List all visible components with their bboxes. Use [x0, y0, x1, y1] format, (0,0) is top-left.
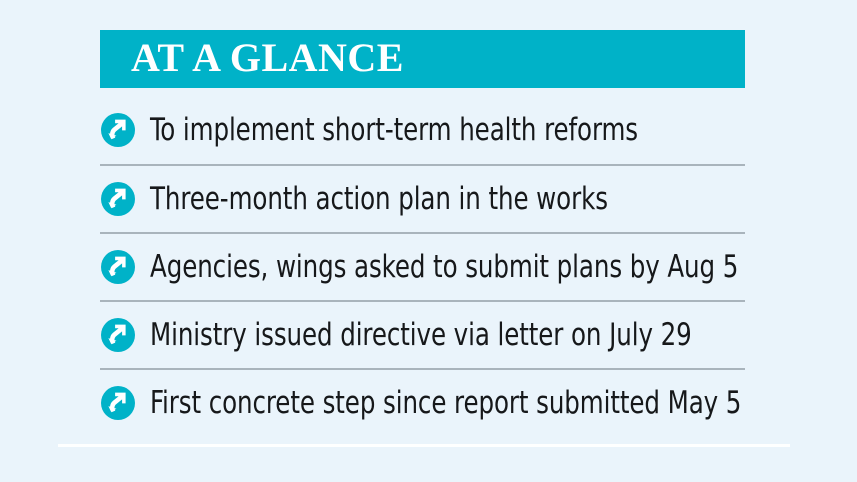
- list-item: Ministry issued directive via letter on …: [100, 300, 745, 368]
- list-item-label: To implement short-term health reforms: [150, 114, 674, 147]
- footer-divider: [58, 444, 790, 447]
- list-item-label: Agencies, wings asked to submit plans by…: [150, 251, 738, 284]
- at-a-glance-infographic: AT A GLANCE To implement short-term heal…: [0, 0, 857, 482]
- curved-arrow-up-right-circle-icon: [100, 317, 136, 353]
- header-banner: AT A GLANCE: [100, 30, 745, 88]
- list-item-label: First concrete step since report submitt…: [150, 387, 741, 420]
- list-item: First concrete step since report submitt…: [100, 368, 745, 436]
- curved-arrow-up-right-circle-icon: [100, 181, 136, 217]
- curved-arrow-up-right-circle-icon: [100, 385, 136, 421]
- list-item: Three-month action plan in the works: [100, 164, 745, 232]
- curved-arrow-up-right-circle-icon: [100, 249, 136, 285]
- curved-arrow-up-right-circle-icon: [100, 112, 136, 148]
- list-item: Agencies, wings asked to submit plans by…: [100, 232, 745, 300]
- list-item-label: Three-month action plan in the works: [150, 183, 674, 216]
- list-item: To implement short-term health reforms: [100, 96, 745, 164]
- list-item-label: Ministry issued directive via letter on …: [150, 319, 692, 352]
- glance-bullet-list: To implement short-term health reforms T…: [100, 96, 745, 436]
- page-title: AT A GLANCE: [131, 38, 404, 78]
